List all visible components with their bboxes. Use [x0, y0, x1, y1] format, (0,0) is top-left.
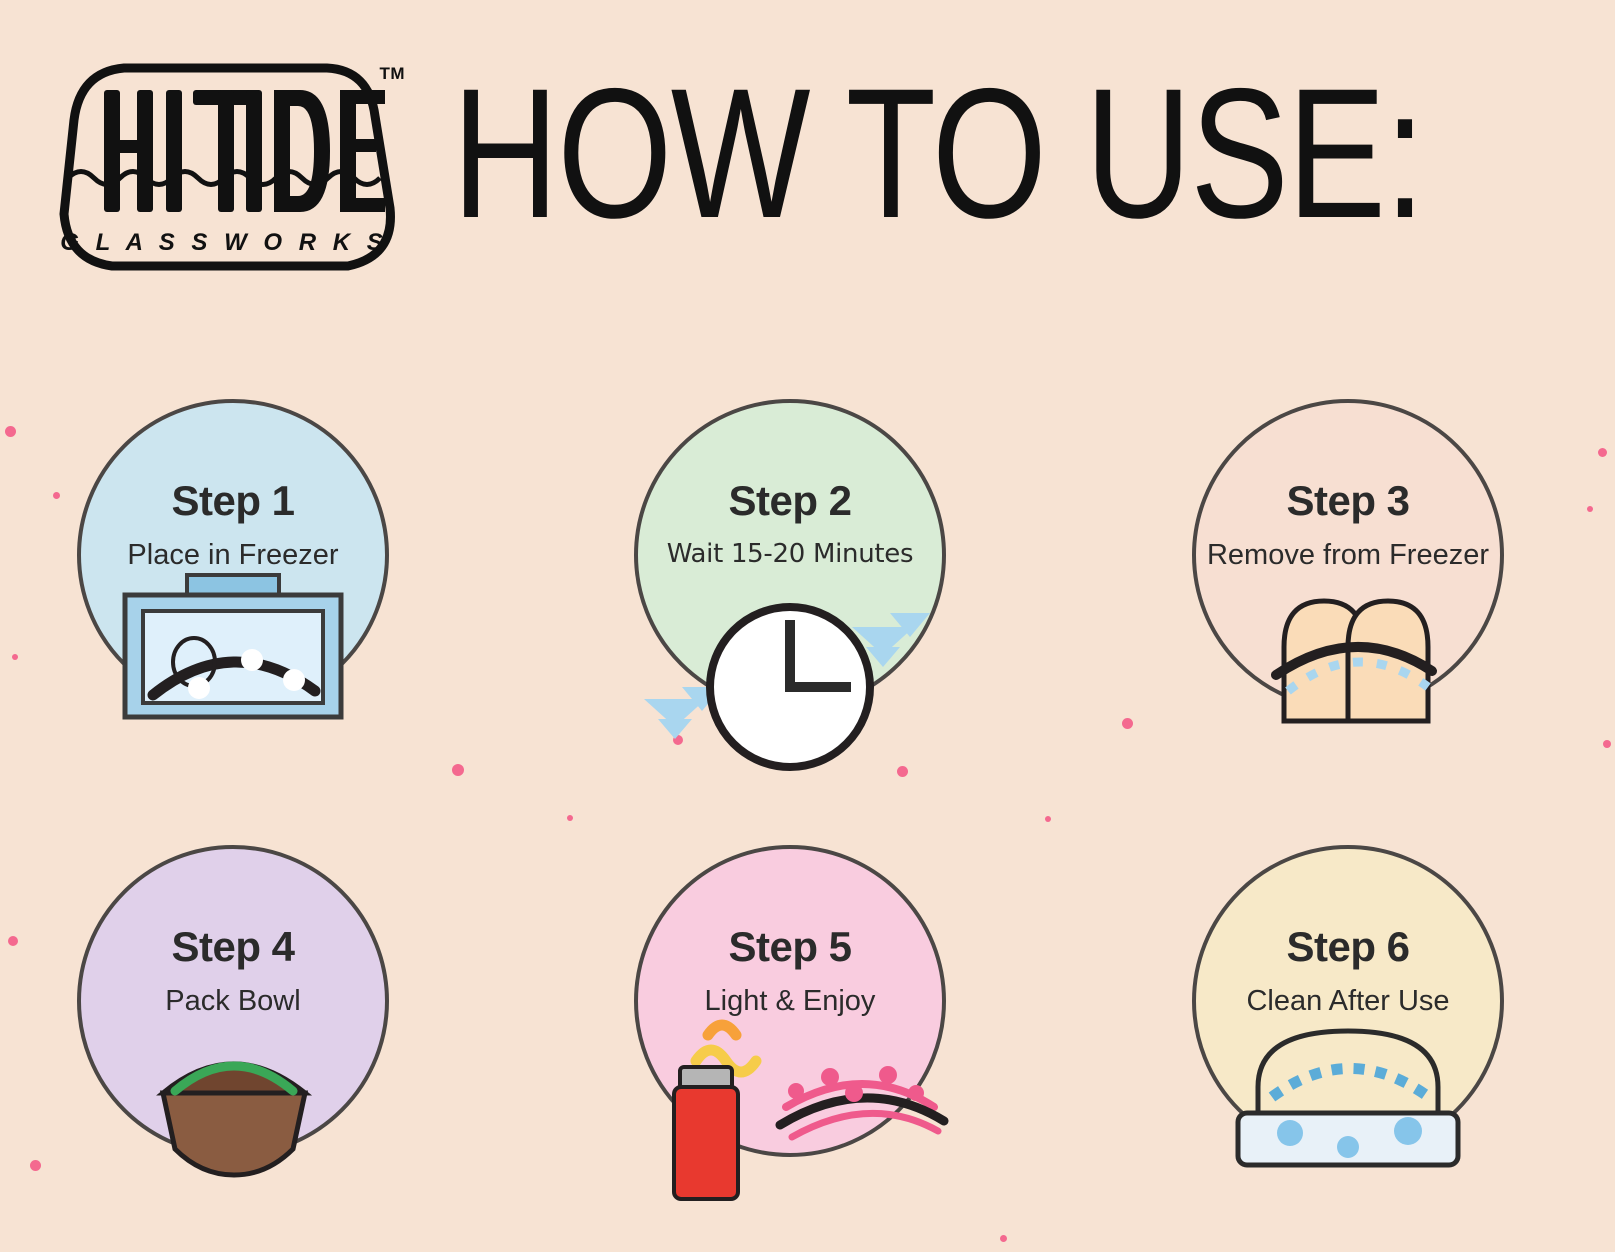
step-card-4[interactable]: Step 4 Pack Bowl [77, 845, 389, 1157]
step-title-2: Step 2 [634, 477, 946, 525]
step-title-3: Step 3 [1192, 477, 1504, 525]
step-card-3[interactable]: Step 3 Remove from Freezer [1192, 399, 1504, 711]
step-subtitle-2: Wait 15-20 Minutes [604, 539, 976, 569]
steps-grid: Step 1 Place in Freezer [0, 0, 1615, 1252]
step-subtitle-4: Pack Bowl [47, 985, 419, 1018]
step-card-2[interactable]: Step 2 Wait 15-20 Minutes [634, 399, 946, 711]
step-subtitle-6: Clean After Use [1162, 985, 1534, 1018]
step-card-5[interactable]: Step 5 Light & Enjoy [634, 845, 946, 1157]
step-card-6[interactable]: Step 6 Clean After Use [1192, 845, 1504, 1157]
poster-canvas: G L A S S W O R K S TM HOW TO USE: [0, 0, 1615, 1252]
step-title-6: Step 6 [1192, 923, 1504, 971]
step-subtitle-3: Remove from Freezer [1162, 539, 1534, 572]
step-title-4: Step 4 [77, 923, 389, 971]
step-card-1[interactable]: Step 1 Place in Freezer [77, 399, 389, 711]
step-subtitle-1: Place in Freezer [47, 539, 419, 572]
step-subtitle-5: Light & Enjoy [604, 985, 976, 1018]
step-title-5: Step 5 [634, 923, 946, 971]
step-title-1: Step 1 [77, 477, 389, 525]
